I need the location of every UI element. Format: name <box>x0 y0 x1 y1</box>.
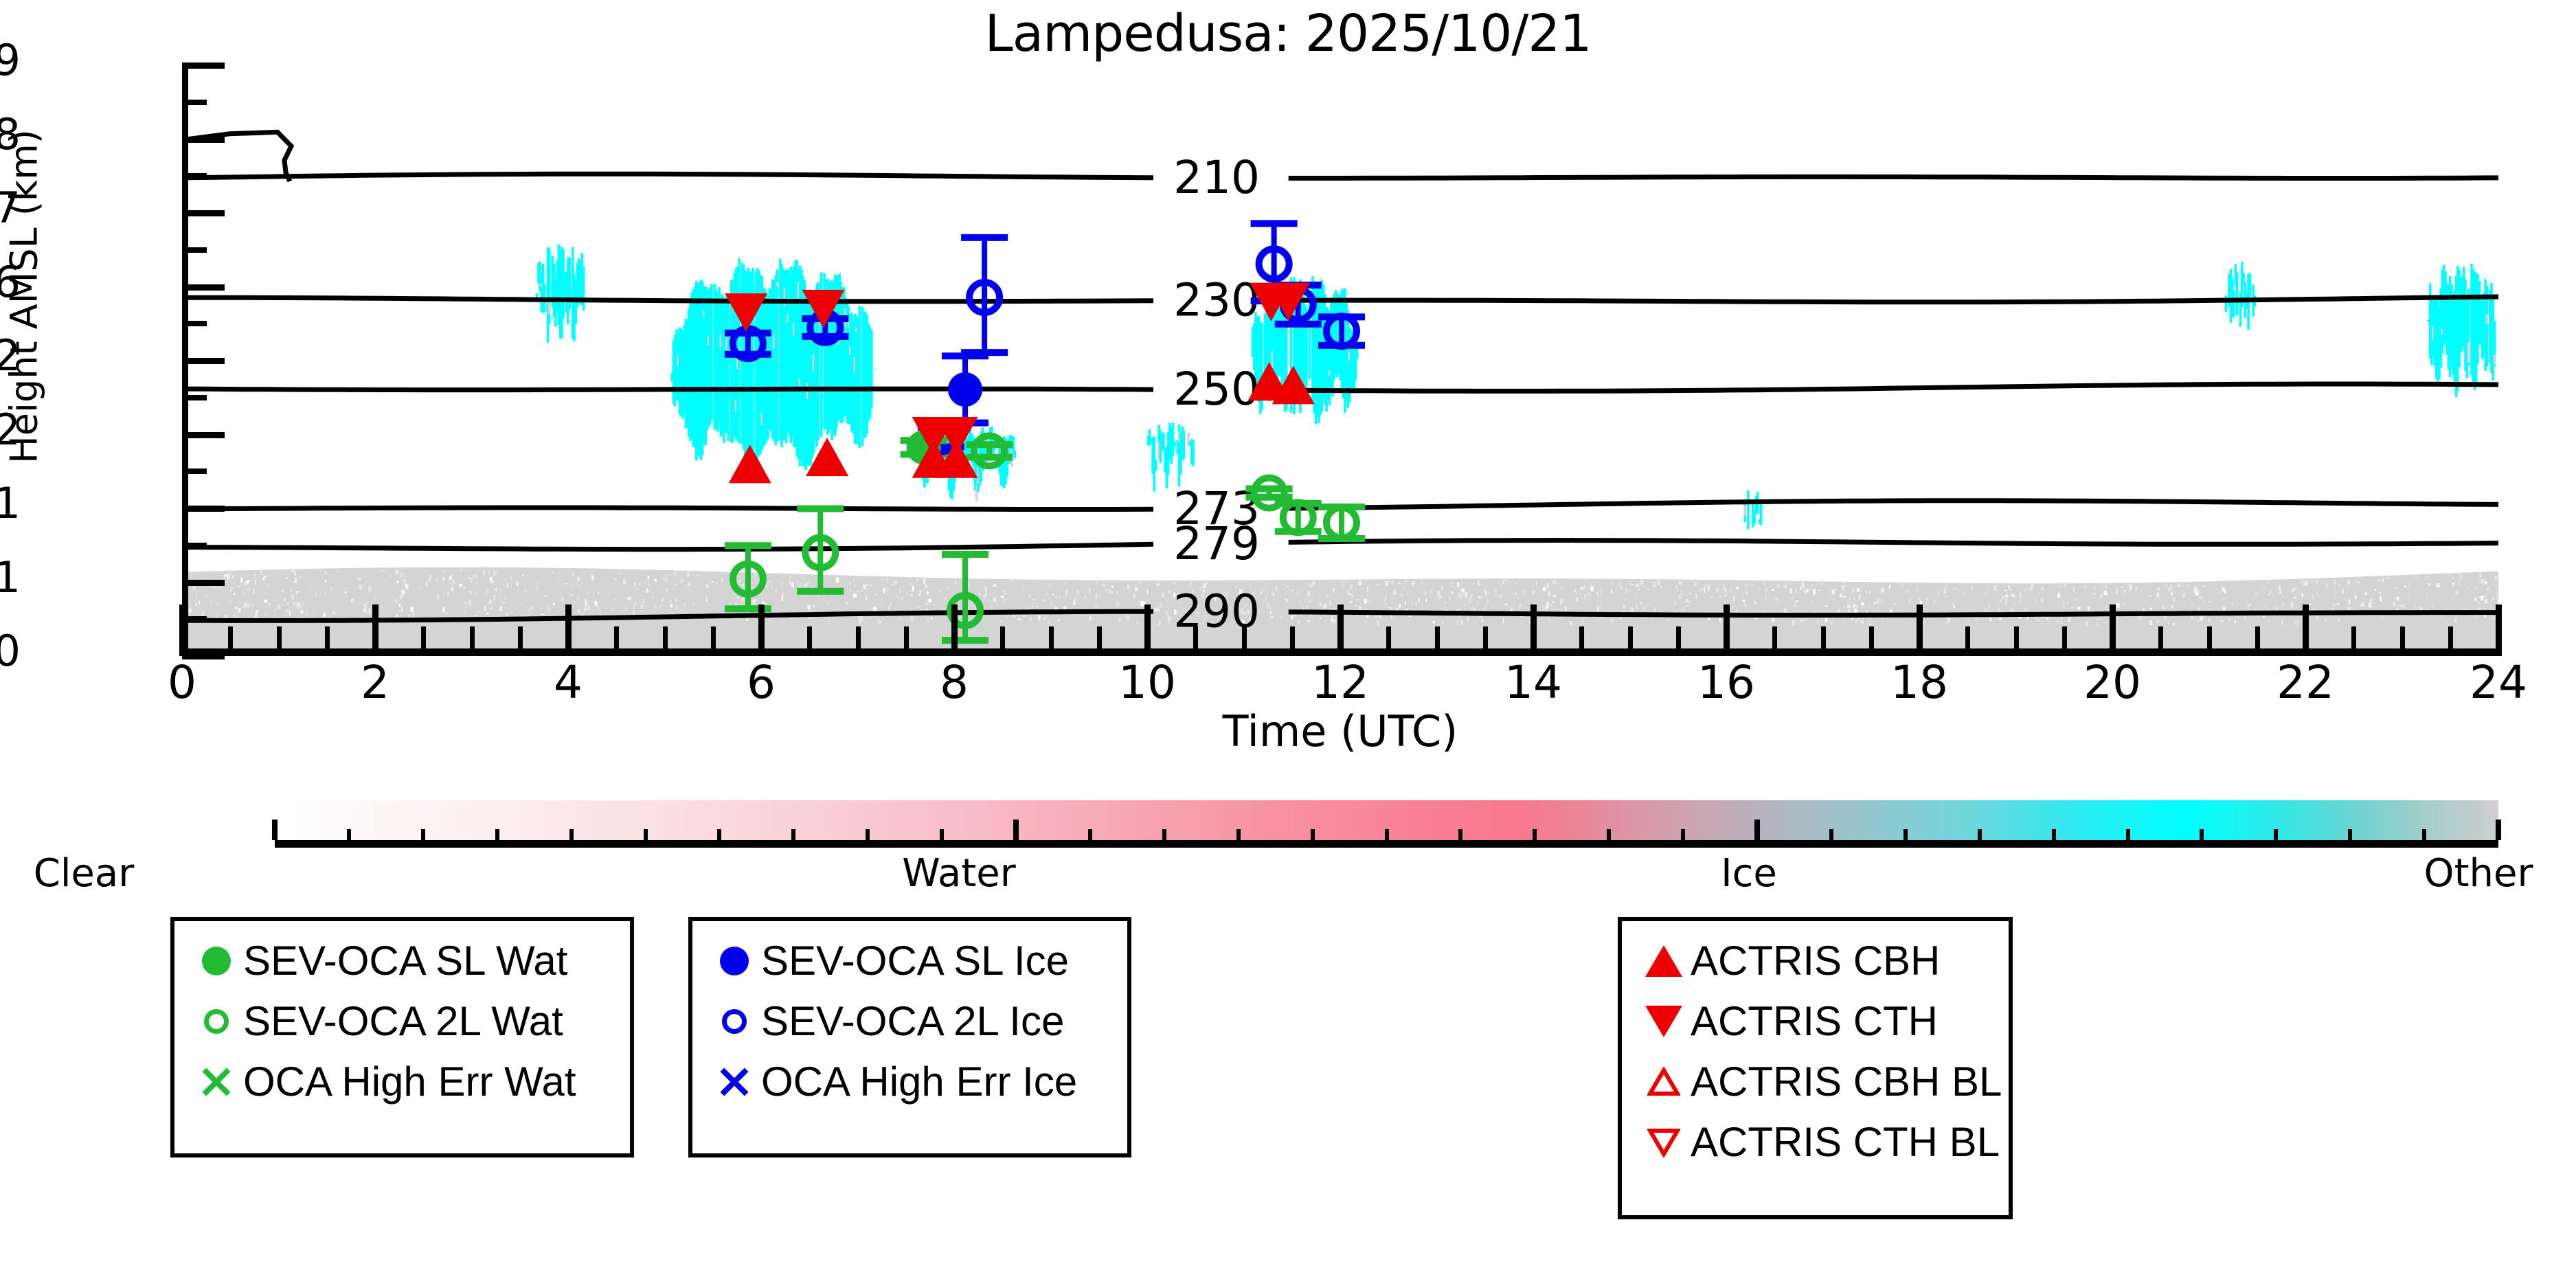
x-tick-minor <box>1869 626 1874 656</box>
legend-item-open-circle[interactable]: SEV-OCA 2L Wat <box>190 991 612 1052</box>
legend-item-triangle-down-open[interactable]: ACTRIS CTH BL <box>1637 1112 1991 1173</box>
colorbar-tick-minor <box>1829 829 1833 840</box>
legend-item-label: SEV-OCA SL Ice <box>761 940 1069 982</box>
legend-ice[interactable]: SEV-OCA SL IceSEV-OCA 2L IceOCA High Err… <box>688 917 1131 1157</box>
colorbar-tick-minor <box>1236 829 1241 840</box>
colorbar-tick-minor <box>940 829 944 840</box>
x-tick-label: 8 <box>899 656 1009 709</box>
legend-water[interactable]: SEV-OCA SL WatSEV-OCA 2L WatOCA High Err… <box>170 917 634 1157</box>
legend-item-label: ACTRIS CBH BL <box>1691 1061 2002 1103</box>
y-tick-label: 2.21 <box>0 552 21 602</box>
colorbar-tick-minor <box>1903 829 1908 840</box>
x-tick-major <box>2110 605 2116 656</box>
x-tick-minor <box>1772 626 1777 656</box>
triangle-up-open-icon <box>1647 1067 1680 1097</box>
x-tick-minor <box>1097 626 1102 656</box>
x-tick-minor <box>711 626 716 656</box>
x-tick-minor <box>1049 626 1054 656</box>
colorbar-tick-minor <box>2052 829 2056 840</box>
colorbar-tick-minor <box>1607 829 1611 840</box>
colorbar-tick-minor <box>495 829 499 840</box>
x-tick-major <box>2303 605 2309 656</box>
colorbar-tick-minor <box>1311 829 1315 840</box>
isotherm-label: 250 <box>1173 363 1260 416</box>
x-tick-minor <box>421 626 426 656</box>
legend-item-label: ACTRIS CBH <box>1691 940 1940 982</box>
triangle-up-icon <box>1645 945 1682 977</box>
x-tick-major <box>1144 605 1151 656</box>
x-tick-minor <box>2158 626 2163 656</box>
colorbar-axis-line <box>275 840 2498 848</box>
x-tick-label: 14 <box>1478 656 1588 709</box>
x-tick-minor <box>518 626 523 656</box>
x-tick-label: 4 <box>513 656 623 709</box>
y-tick-minor <box>182 395 207 400</box>
x-tick-minor <box>1435 626 1440 656</box>
x-tick-major <box>1337 605 1344 656</box>
y-tick-label: 14.8 <box>0 109 21 159</box>
legend-symbol <box>1637 934 1691 988</box>
y-tick-major <box>182 432 225 438</box>
triangle-down-open-icon <box>1647 1127 1680 1157</box>
legend-item-triangle-down[interactable]: ACTRIS CTH <box>1637 991 1991 1052</box>
page-title: Lampedusa: 2025/10/21 <box>0 4 2576 63</box>
colorbar-tick-minor <box>2126 829 2130 840</box>
legend-item-x[interactable]: OCA High Err Wat <box>190 1052 612 1112</box>
legend-item-label: SEV-OCA 2L Ice <box>761 1001 1064 1042</box>
colorbar-tick-minor <box>2274 829 2278 840</box>
colorbar-tick-minor <box>1162 829 1166 840</box>
colorbar-tick-minor <box>347 829 351 840</box>
x-tick-minor <box>904 626 909 656</box>
x-tick-minor <box>1628 626 1633 656</box>
colorbar-tick-minor <box>2422 829 2426 840</box>
marker-filled-circle <box>948 372 982 407</box>
x-tick-label: 10 <box>1092 656 1202 709</box>
colorbar-label-clear: Clear <box>0 851 221 896</box>
legend-item-filled-circle[interactable]: SEV-OCA SL Wat <box>190 931 612 991</box>
x-tick-minor <box>1821 626 1826 656</box>
y-tick-minor <box>182 100 207 105</box>
colorbar-tick-minor <box>1088 829 1092 840</box>
x-tick-label: 16 <box>1671 656 1781 709</box>
x-tick-minor <box>2400 626 2405 656</box>
x-tick-major <box>1917 605 1923 656</box>
x-tick-label: 20 <box>2057 656 2167 709</box>
legend-item-x[interactable]: OCA High Err Ice <box>708 1052 1109 1112</box>
legend-item-label: SEV-OCA 2L Wat <box>243 1001 563 1042</box>
colorbar-tick-minor <box>791 829 795 840</box>
isotherm-label: 230 <box>1173 274 1260 327</box>
legend-item-label: OCA High Err Ice <box>761 1061 1077 1103</box>
x-tick-minor <box>2255 626 2260 656</box>
plot-area: 210230250273279290 <box>182 65 2498 656</box>
legend-actris[interactable]: ACTRIS CBHACTRIS CTHACTRIS CBH BLACTRIS … <box>1618 917 2013 1219</box>
x-axis-label: Time (UTC) <box>182 706 2498 756</box>
colorbar-tick-minor <box>421 829 425 840</box>
x-tick-major <box>758 605 765 656</box>
colorbar-tick-minor <box>2200 829 2204 840</box>
colorbar-tick-minor <box>1681 829 1685 840</box>
y-tick-major <box>182 358 225 364</box>
filled-circle-icon <box>202 947 231 975</box>
y-tick-label: 10.6 <box>0 257 21 307</box>
x-tick-minor <box>614 626 619 656</box>
y-tick-major <box>182 506 225 512</box>
x-tick-minor <box>1386 626 1391 656</box>
legend-symbol <box>708 1055 761 1109</box>
colorbar-label-ice: Ice <box>1612 851 1886 896</box>
colorbar-tick-minor <box>717 829 721 840</box>
legend-item-triangle-up-open[interactable]: ACTRIS CBH BL <box>1637 1052 1991 1112</box>
x-tick-minor <box>470 626 475 656</box>
colorbar-tick-minor <box>1533 829 1537 840</box>
x-tick-minor <box>2062 626 2067 656</box>
legend-symbol <box>190 1055 243 1109</box>
legend-item-label: OCA High Err Wat <box>243 1061 576 1103</box>
colorbar-tick-major <box>1754 820 1760 840</box>
y-tick-major <box>182 63 225 69</box>
x-tick-label: 12 <box>1285 656 1395 709</box>
legend-symbol <box>1637 995 1691 1048</box>
x-tick-minor <box>1676 626 1681 656</box>
y-tick-minor <box>182 543 207 548</box>
x-tick-minor <box>807 626 812 656</box>
x-tick-major <box>179 605 185 656</box>
x-tick-label: 2 <box>320 656 430 709</box>
colorbar-label-water: Water <box>822 851 1096 896</box>
x-tick-minor <box>277 626 282 656</box>
isotherm-label: 279 <box>1173 517 1260 570</box>
colorbar-tick-minor <box>569 829 574 840</box>
x-tick-major <box>565 605 572 656</box>
colorbar-tick-minor <box>2348 829 2352 840</box>
y-tick-label: 6.42 <box>0 405 21 455</box>
colorbar-tick-minor <box>866 829 870 840</box>
open-circle-icon <box>722 1009 747 1034</box>
isotherm-label: 210 <box>1173 151 1260 204</box>
y-tick-label: 0.10 <box>0 626 21 676</box>
legend-item-triangle-up[interactable]: ACTRIS CBH <box>1637 931 1991 991</box>
x-tick-minor <box>2448 626 2453 656</box>
x-tick-major <box>1724 605 1730 656</box>
triangle-down-icon <box>1645 1006 1682 1037</box>
x-tick-minor <box>2014 626 2019 656</box>
x-tick-major <box>2496 605 2502 656</box>
x-tick-minor <box>1242 626 1247 656</box>
x-tick-minor <box>856 626 861 656</box>
legend-item-label: ACTRIS CTH BL <box>1691 1122 2000 1163</box>
legend-item-label: ACTRIS CTH <box>1691 1001 1938 1042</box>
y-tick-minor <box>182 321 207 326</box>
filled-circle-icon <box>720 947 749 975</box>
y-tick-minor <box>182 468 207 474</box>
y-tick-label: 12.7 <box>0 183 21 233</box>
phase-colorbar: Clear Water Ice Other <box>0 800 2576 890</box>
x-tick-label: 18 <box>1864 656 1974 709</box>
legend-item-open-circle[interactable]: SEV-OCA 2L Ice <box>708 991 1109 1052</box>
y-tick-major <box>182 580 225 586</box>
x-tick-minor <box>228 626 233 656</box>
x-tick-major <box>1530 605 1537 656</box>
x-tick-minor <box>1483 626 1488 656</box>
legend-symbol <box>190 934 243 988</box>
x-tick-minor <box>1290 626 1295 656</box>
x-tick-minor <box>2351 626 2356 656</box>
marker-triangle-up <box>729 444 771 483</box>
y-tick-label: 8.52 <box>0 330 21 381</box>
colorbar-tick-minor <box>644 829 648 840</box>
plot-canvas: 210230250273279290 <box>188 65 2498 648</box>
x-mark-icon <box>717 1065 752 1099</box>
y-tick-minor <box>182 247 207 253</box>
colorbar-tick-minor <box>1978 829 1982 840</box>
colorbar-tick-major <box>2496 820 2501 840</box>
x-mark-icon <box>199 1065 234 1099</box>
x-tick-minor <box>325 626 330 656</box>
x-tick-major <box>372 605 379 656</box>
x-tick-minor <box>1000 626 1005 656</box>
legend-symbol <box>1637 1055 1691 1109</box>
y-tick-label: 4.31 <box>0 478 21 528</box>
legend-symbol <box>708 995 761 1048</box>
colorbar-tick-minor <box>1458 829 1462 840</box>
x-tick-label: 0 <box>127 656 237 709</box>
x-tick-label: 24 <box>2443 656 2553 709</box>
legend-item-filled-circle[interactable]: SEV-OCA SL Ice <box>708 931 1109 991</box>
open-circle-icon <box>204 1009 229 1034</box>
x-tick-minor <box>2207 626 2212 656</box>
y-tick-minor <box>182 173 207 179</box>
legend-symbol <box>190 995 243 1048</box>
x-tick-label: 22 <box>2250 656 2360 709</box>
plot-graphics: 210230250273279290 <box>188 65 2498 656</box>
legend-item-label: SEV-OCA SL Wat <box>243 940 567 982</box>
y-tick-major <box>182 137 225 143</box>
legend-symbol <box>1637 1116 1691 1169</box>
x-tick-minor <box>663 626 668 656</box>
legend-symbol <box>708 934 761 988</box>
y-tick-major <box>182 210 225 216</box>
x-tick-major <box>951 605 958 656</box>
colorbar-tick-major <box>272 820 278 840</box>
y-tick-major <box>182 284 225 291</box>
isotherm-label: 290 <box>1173 585 1260 637</box>
x-tick-minor <box>1965 626 1970 656</box>
x-tick-label: 6 <box>706 656 816 709</box>
colorbar-tick-major <box>1013 820 1019 840</box>
colorbar-tick-minor <box>1385 829 1389 840</box>
y-tick-minor <box>182 616 207 622</box>
y-tick-label: 16.9 <box>0 35 21 85</box>
colorbar-label-other: Other <box>2341 851 2576 896</box>
x-tick-minor <box>1579 626 1584 656</box>
x-tick-minor <box>1193 626 1198 656</box>
